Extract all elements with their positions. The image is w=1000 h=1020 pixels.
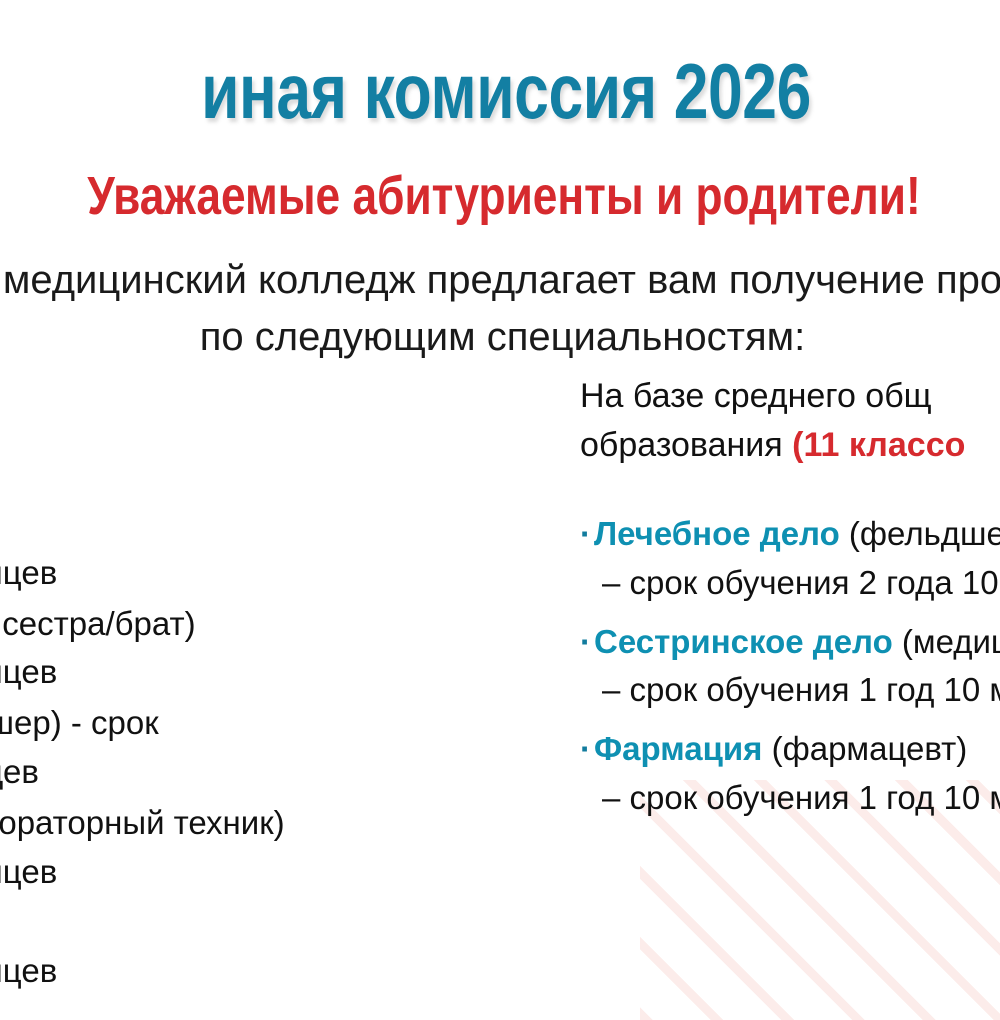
list-item: ·Лечебное дело (фельдшер – срок обучения… bbox=[580, 510, 1000, 608]
specialty-role: (медици bbox=[902, 623, 1000, 660]
specialty-title: дшер) bbox=[0, 500, 472, 549]
specialty-title: ·Фармация (фармацевт) bbox=[580, 725, 1000, 774]
intro-line-2: по следующим специальностям: bbox=[0, 309, 1000, 366]
specialty-title: т) bbox=[0, 899, 472, 948]
list-item: дшер) а 10 месяцев bbox=[0, 500, 472, 598]
specialty-title: ·Лечебное дело (фельдшер bbox=[580, 510, 1000, 559]
list-item: ·Сестринское дело (медици – срок обучени… bbox=[580, 618, 1000, 716]
specialty-duration: а 10 месяцев bbox=[0, 549, 472, 598]
specialty-title: стика (лабораторный техник) bbox=[0, 799, 472, 848]
column-right-specialty-list: ·Лечебное дело (фельдшер – срок обучения… bbox=[580, 510, 1000, 823]
column-right-heading-line-2: образования (11 классо bbox=[580, 421, 1000, 470]
intro-line-1: медицинский колледж предлагает вам получ… bbox=[3, 258, 1000, 302]
list-item: шерка/акушер) - срок а 6 месяцев bbox=[0, 699, 472, 797]
column-left-heading: общего ссов) bbox=[0, 372, 472, 470]
column-right-heading-line-1: На базе среднего общ bbox=[580, 372, 1000, 421]
specialty-duration: а 10 месяцев bbox=[0, 947, 472, 996]
bullet-icon: · bbox=[580, 515, 591, 552]
intro-paragraph: медицинский колледж предлагает вам получ… bbox=[0, 252, 1000, 366]
specialty-name: Лечебное дело bbox=[594, 515, 840, 552]
list-item: дицинская сестра/брат) а 10 месяцев bbox=[0, 600, 472, 698]
specialty-role: (лабораторный техник) bbox=[0, 804, 285, 841]
specialty-title: шерка/акушер) - срок bbox=[0, 699, 472, 748]
specialty-duration: – срок обучения 1 год 10 м bbox=[580, 666, 1000, 715]
column-right-heading: На базе среднего общ образования (11 кла… bbox=[580, 372, 1000, 470]
specialty-role: (фармацевт) bbox=[772, 730, 968, 767]
list-item: т) а 10 месяцев bbox=[0, 899, 472, 997]
specialty-role: шерка/акушер) - срок bbox=[0, 704, 159, 741]
specialty-title: дицинская сестра/брат) bbox=[0, 600, 472, 649]
specialty-duration: – срок обучения 1 год 10 м bbox=[580, 774, 1000, 823]
specialty-duration: а 6 месяцев bbox=[0, 748, 472, 797]
specialty-duration: а 10 месяцев bbox=[0, 848, 472, 897]
column-right-heading-plain: образования bbox=[580, 426, 792, 464]
bullet-icon: · bbox=[580, 730, 591, 767]
specialty-title: ·Сестринское дело (медици bbox=[580, 618, 1000, 667]
list-item: стика (лабораторный техник) а 10 месяцев bbox=[0, 799, 472, 897]
column-right: На базе среднего общ образования (11 кла… bbox=[580, 372, 1000, 833]
bullet-icon: · bbox=[580, 623, 591, 660]
column-left-specialty-list: дшер) а 10 месяцев дицинская сестра/брат… bbox=[0, 500, 472, 996]
column-left: общего ссов) дшер) а 10 месяцев дицинска… bbox=[0, 372, 472, 998]
specialty-role: (фельдшер bbox=[849, 515, 1000, 552]
specialty-duration: – срок обучения 2 года 10 bbox=[580, 559, 1000, 608]
page-subtitle: Уважаемые абитуриенты и родители! bbox=[45, 168, 963, 225]
list-item: ·Фармация (фармацевт) – срок обучения 1 … bbox=[580, 725, 1000, 823]
column-left-heading-line-1: общего bbox=[0, 372, 472, 421]
specialty-duration: а 10 месяцев bbox=[0, 648, 472, 697]
slide-canvas: иная комиссия 2026 Уважаемые абитуриенты… bbox=[0, 0, 1000, 1000]
specialty-name: Сестринское дело bbox=[594, 623, 893, 660]
column-left-heading-highlight: ссов) bbox=[0, 421, 472, 470]
column-right-heading-highlight: (11 классо bbox=[792, 426, 965, 464]
specialty-role: дицинская сестра/брат) bbox=[0, 605, 196, 642]
page-title: иная комиссия 2026 bbox=[50, 52, 962, 132]
specialty-name: Фармация bbox=[594, 730, 762, 767]
